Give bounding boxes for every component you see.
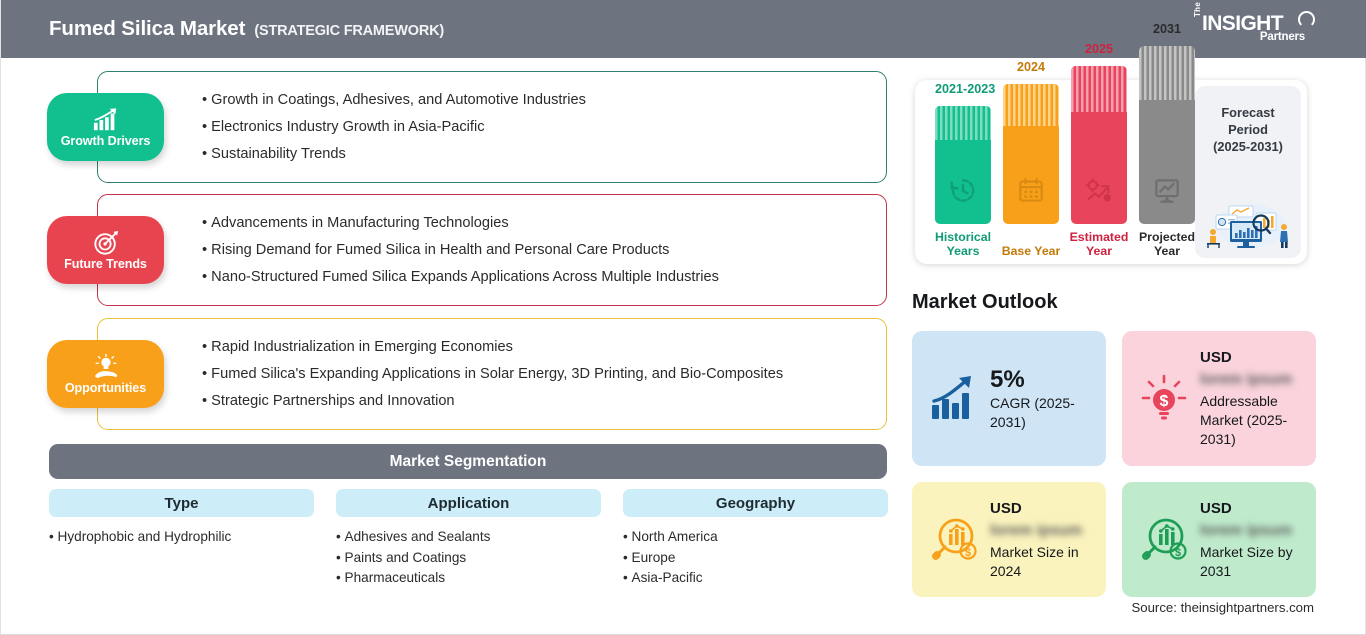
badge-label: Future Trends — [64, 257, 147, 271]
segmentation-item: Pharmaceuticals — [336, 568, 601, 589]
outlook-card-label: Market Size in 2024 — [990, 543, 1102, 581]
segmentation-item: Paints and Coatings — [336, 548, 601, 569]
outlook-card-cagr[interactable]: 5% CAGR (2025-2031) — [912, 331, 1106, 466]
insight-bullet-list: Growth in Coatings, Adhesives, and Autom… — [202, 71, 586, 183]
timeline-bar-group-base: 2024 Base Year — [1003, 88, 1059, 256]
segmentation-column-type: Type Hydrophobic and Hydrophilic — [49, 489, 314, 548]
presentation-chart-icon — [1154, 177, 1181, 204]
timeline-bar-stripes — [1139, 46, 1195, 100]
segmentation-column-application: Application Adhesives and Sealants Paint… — [336, 489, 601, 589]
bullet-item: Rapid Industrialization in Emerging Econ… — [202, 339, 783, 355]
source-attribution: Source: theinsightpartners.com — [1131, 600, 1314, 615]
timeline-bar-stripes — [1003, 84, 1059, 126]
outlook-card-body: 5% CAGR (2025-2031) — [990, 366, 1106, 432]
outlook-value-redacted: lorem ipsum — [1200, 520, 1312, 541]
timeline-bar — [1139, 46, 1195, 224]
timeline-year-label: 2025 — [1071, 42, 1127, 56]
segmentation-item: Asia-Pacific — [623, 568, 888, 589]
badge-label: Growth Drivers — [61, 134, 151, 148]
segmentation-item: Europe — [623, 548, 888, 569]
badge-opportunities[interactable]: Opportunities — [47, 340, 164, 408]
bullet-item: Growth in Coatings, Adhesives, and Autom… — [202, 92, 586, 108]
timeline-bar — [1003, 84, 1059, 224]
forecast-line-2: Period — [1195, 121, 1301, 138]
outlook-currency-label: USD — [1200, 499, 1312, 519]
outlook-card-market-size-2031[interactable]: $ USD lorem ipsum Market Size by 2031 — [1122, 482, 1316, 597]
insight-partners-logo[interactable]: The INSIGHT Partners — [1193, 11, 1313, 49]
forecast-years: (2025-2031) — [1195, 138, 1301, 155]
timeline-bar-group-projected: 2031 Projected Year — [1139, 88, 1195, 256]
history-clock-icon — [950, 177, 977, 204]
forecast-line-1: Forecast — [1195, 104, 1301, 121]
segmentation-pill: Application — [336, 489, 601, 517]
bullet-item: Fumed Silica's Expanding Applications in… — [202, 366, 783, 382]
forecast-period-text: Forecast Period (2025-2031) — [1195, 104, 1301, 155]
segmentation-column-geography: Geography North America Europe Asia-Paci… — [623, 489, 888, 589]
timeline-caption: Projected Year — [1131, 230, 1203, 258]
bullet-item: Advancements in Manufacturing Technologi… — [202, 215, 719, 231]
outlook-card-body: USD lorem ipsum Addressable Market (2025… — [1200, 348, 1305, 449]
logo-the-text: The — [1193, 2, 1202, 17]
insight-bullet-list: Rapid Industrialization in Emerging Econ… — [202, 318, 783, 430]
bar-chart-arrow-up-icon — [91, 107, 121, 133]
segmentation-item: Adhesives and Sealants — [336, 527, 601, 548]
timeline-bar — [1071, 66, 1127, 224]
svg-text:$: $ — [1175, 547, 1181, 559]
target-dart-icon — [91, 230, 121, 256]
bullet-item: Strategic Partnerships and Innovation — [202, 393, 783, 409]
outlook-cagr-value: 5% — [990, 366, 1106, 394]
bulb-dollar-icon: $ — [1138, 373, 1190, 425]
lightbulb-hand-icon — [91, 354, 121, 380]
bullet-item: Electronics Industry Growth in Asia-Paci… — [202, 119, 586, 135]
badge-future-trends[interactable]: Future Trends — [47, 216, 164, 284]
bullet-item: Nano-Structured Fumed Silica Expands App… — [202, 269, 719, 285]
logo-partners-text: Partners — [1260, 31, 1305, 43]
analytics-dashboard-illustration — [1199, 190, 1297, 250]
segmentation-item-list: North America Europe Asia-Pacific — [623, 527, 888, 589]
timeline-bar-group-historical: 2021-2023 Historical Years — [935, 88, 991, 256]
bullet-item: Sustainability Trends — [202, 146, 586, 162]
segmentation-column-title: Application — [428, 495, 510, 512]
page-subtitle: (STRATEGIC FRAMEWORK) — [254, 23, 444, 39]
page-title: Fumed Silica Market — [49, 17, 245, 41]
outlook-value-redacted: lorem ipsum — [1200, 369, 1305, 390]
forecast-period-panel: Forecast Period (2025-2031) — [1195, 86, 1301, 258]
svg-text:$: $ — [1160, 393, 1169, 410]
outlook-currency-label: USD — [990, 499, 1102, 519]
outlook-card-label: Market Size by 2031 — [1200, 543, 1312, 581]
outlook-card-body: USD lorem ipsum Market Size in 2024 — [990, 499, 1102, 581]
outlook-card-body: USD lorem ipsum Market Size by 2031 — [1200, 499, 1312, 581]
timeline-bar-stripes — [1071, 66, 1127, 112]
market-segmentation-header: Market Segmentation — [49, 444, 887, 479]
outlook-card-label: Addressable Market (2025-2031) — [1200, 392, 1305, 449]
segmentation-item-list: Adhesives and Sealants Paints and Coatin… — [336, 527, 601, 589]
timeline-bar-group-estimated: 2025 Estimated Year — [1071, 88, 1127, 256]
svg-text:$: $ — [965, 547, 971, 559]
timeline-year-label: 2024 — [1003, 60, 1059, 74]
segmentation-pill: Type — [49, 489, 314, 517]
magnifier-bars-dollar-icon: $ — [1138, 514, 1190, 566]
segmentation-column-title: Type — [165, 495, 199, 512]
market-outlook-title: Market Outlook — [912, 291, 1058, 314]
segmentation-column-title: Geography — [716, 495, 795, 512]
badge-label: Opportunities — [65, 381, 146, 395]
segmentation-item-list: Hydrophobic and Hydrophilic — [49, 527, 314, 548]
forecast-timeline-card: 2021-2023 Historical Years 2024 — [915, 80, 1307, 264]
header-title-wrap: Fumed Silica Market (STRATEGIC FRAMEWORK… — [49, 17, 444, 41]
segmentation-pill: Geography — [623, 489, 888, 517]
timeline-year-label: 2021-2023 — [935, 82, 991, 96]
outlook-currency-label: USD — [1200, 348, 1305, 368]
timeline-caption: Base Year — [995, 244, 1067, 258]
infographic-page: Fumed Silica Market (STRATEGIC FRAMEWORK… — [0, 0, 1366, 635]
growth-chart-icon — [928, 373, 980, 425]
bullet-item: Rising Demand for Fumed Silica in Health… — [202, 242, 719, 258]
timeline-year-label: 2031 — [1139, 22, 1195, 36]
logo-ring-icon — [1298, 11, 1315, 28]
segmentation-item: North America — [623, 527, 888, 548]
outlook-card-addressable-market[interactable]: $ USD lorem ipsum Addressable Market (20… — [1122, 331, 1316, 466]
timeline-caption: Estimated Year — [1063, 230, 1135, 258]
timeline-bar-stripes — [935, 106, 991, 140]
badge-growth-drivers[interactable]: Growth Drivers — [47, 93, 164, 161]
timeline-bar — [935, 106, 991, 224]
outlook-value-redacted: lorem ipsum — [990, 520, 1102, 541]
outlook-card-market-size-2024[interactable]: $ USD lorem ipsum Market Size in 2024 — [912, 482, 1106, 597]
magnifier-bars-dollar-icon: $ — [928, 514, 980, 566]
timeline-caption: Historical Years — [927, 230, 999, 258]
insight-bullet-list: Advancements in Manufacturing Technologi… — [202, 194, 719, 306]
outlook-cagr-label: CAGR (2025-2031) — [990, 394, 1106, 432]
market-segmentation-title: Market Segmentation — [390, 453, 547, 471]
forecast-gear-icon — [1086, 177, 1113, 204]
segmentation-item: Hydrophobic and Hydrophilic — [49, 527, 314, 548]
calendar-icon — [1018, 177, 1045, 204]
